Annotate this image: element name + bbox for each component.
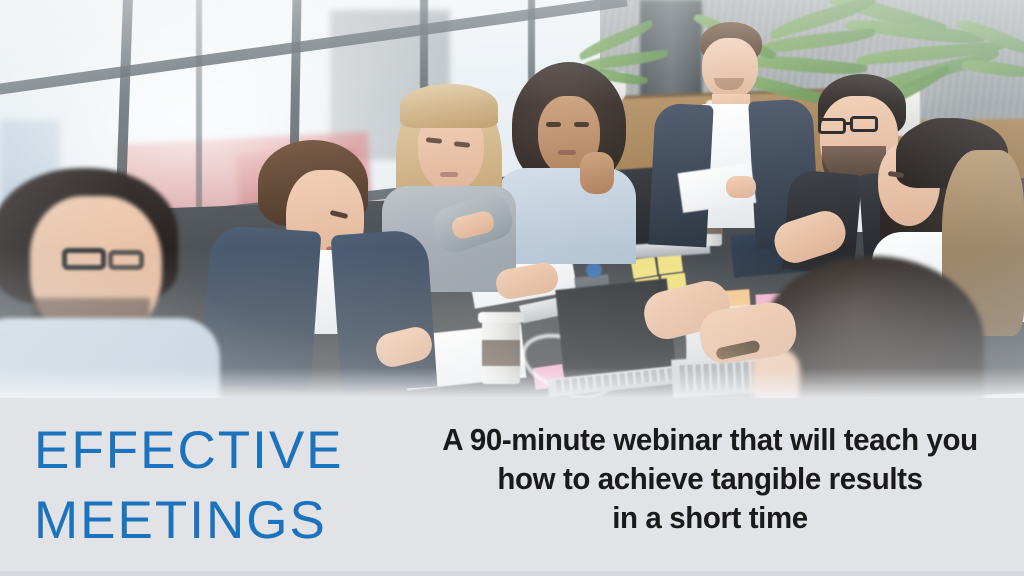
woman-curly-shirt — [496, 168, 636, 264]
man-foreground-shirt — [0, 318, 220, 400]
title-line-1: EFFECTIVE — [34, 416, 384, 486]
woman-blonde-mouth — [440, 172, 458, 177]
webinar-promo-banner: EFFECTIVE MEETINGS A 90-minute webinar t… — [0, 0, 1024, 576]
title-line-2: MEETINGS — [34, 486, 384, 556]
woman-curly-hand — [580, 152, 614, 194]
coffee-cup-lid — [478, 312, 524, 323]
title-block: EFFECTIVE MEETINGS — [34, 416, 384, 556]
meeting-photo — [0, 0, 1024, 400]
eyeglasses-left-lens — [818, 118, 846, 134]
coffee-cup-sleeve — [482, 340, 520, 366]
woman-curly-eye-right — [574, 122, 589, 127]
eyeglasses-foreground-lens-2 — [108, 250, 144, 270]
subtitle-line-3: in a short time — [412, 498, 1009, 537]
banner-bottom-rule — [0, 571, 1024, 576]
man-denim-shirt-right — [331, 229, 438, 393]
woman-blonde-hair-front — [400, 84, 498, 128]
subtitle-line-2: how to achieve tangible results — [412, 459, 1009, 498]
man-standing-face — [702, 38, 758, 100]
window-mullion-vertical-5 — [196, 0, 202, 240]
eyeglasses-bridge — [846, 122, 852, 125]
woman-curly-mouth — [558, 150, 576, 155]
eyeglasses-foreground-lens — [62, 248, 106, 270]
woman-curly-eye-left — [546, 122, 561, 127]
eyeglasses-right-lens — [850, 116, 878, 132]
subtitle-block: A 90-minute webinar that will teach you … — [396, 420, 1024, 537]
man-standing-hand — [726, 176, 756, 198]
pen-cap — [586, 262, 602, 278]
text-banner: EFFECTIVE MEETINGS A 90-minute webinar t… — [0, 398, 1024, 576]
subtitle-line-1: A 90-minute webinar that will teach you — [412, 420, 1009, 459]
